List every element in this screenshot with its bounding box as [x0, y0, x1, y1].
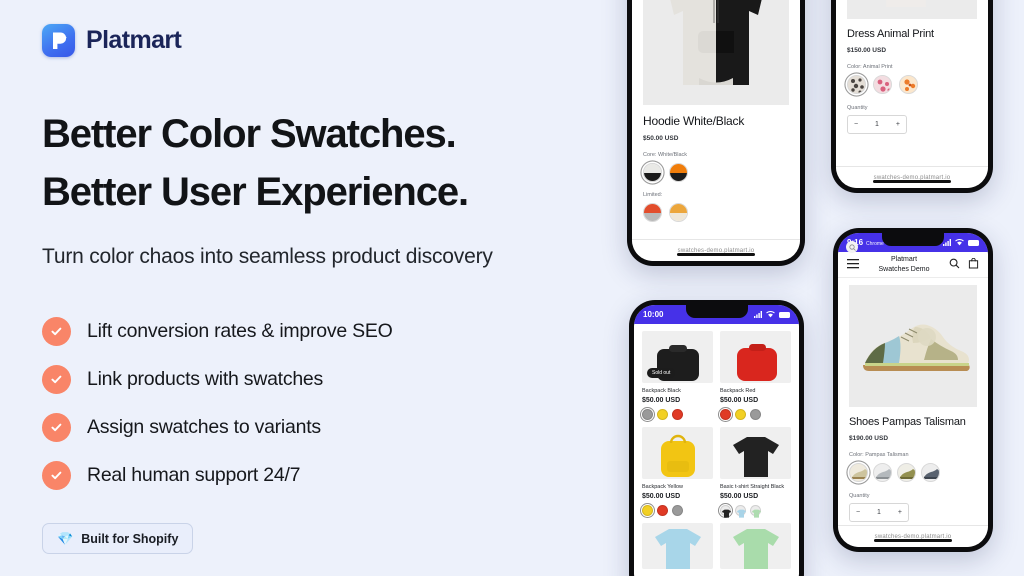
- site-header: Platmart Swatches Demo: [838, 252, 988, 278]
- list-item: Lift conversion rates & improve SEO: [42, 307, 580, 355]
- shoe-grey-swatch[interactable]: [873, 463, 892, 482]
- status-app-label: Chrome: [866, 241, 884, 247]
- product-image: [643, 0, 789, 105]
- grey-dot[interactable]: [672, 505, 683, 516]
- check-circle-icon: [42, 317, 71, 346]
- orange-black-swatch[interactable]: [669, 163, 688, 182]
- product-name: Basic t-shirt Straight Black: [720, 484, 791, 490]
- status-time-group: 10:00: [643, 310, 663, 319]
- yellow-dot[interactable]: [642, 505, 653, 516]
- cart-icon[interactable]: [968, 256, 979, 274]
- signal-icon: [943, 239, 951, 246]
- product-title: Shoes Pampas Talisman: [849, 416, 977, 428]
- phone-mockup-collection: 10:00 Sold out Backpack Black $50.00 USD: [629, 300, 804, 576]
- url-bar[interactable]: swatches-demo.platmart.io: [836, 166, 988, 188]
- yellow-dot[interactable]: [657, 409, 668, 420]
- phone-mockup-shoes: 9:16 Chrome Platmart Swatches Demo: [833, 228, 993, 552]
- check-circle-icon: [42, 461, 71, 490]
- red-dot[interactable]: [672, 409, 683, 420]
- swatch-row: [642, 505, 713, 516]
- grey-dot[interactable]: [750, 409, 761, 420]
- home-indicator: [874, 539, 952, 542]
- shoe-olive-swatch[interactable]: [897, 463, 916, 482]
- subheadline: Turn color chaos into seamless product d…: [42, 239, 532, 275]
- phone-screen: 9:16 Chrome Platmart Swatches Demo: [838, 233, 988, 547]
- gem-icon: 💎: [57, 532, 73, 545]
- product-image: Sold out: [642, 331, 713, 383]
- brand-name: Platmart: [86, 26, 181, 55]
- quantity-value: 1: [877, 509, 881, 516]
- red-dot[interactable]: [657, 505, 668, 516]
- green-tshirt-swatch[interactable]: [750, 505, 761, 516]
- product-title: Dress Animal Print: [847, 28, 977, 40]
- swatch-row: [642, 409, 713, 420]
- site-title-line-1: Platmart: [891, 256, 917, 263]
- product-detail-page: Dress Animal Print $150.00 USD Color: An…: [836, 0, 988, 134]
- product-image: [720, 331, 791, 383]
- phone-screen: Dress Animal Print $150.00 USD Color: An…: [836, 0, 988, 188]
- quantity-increment-button[interactable]: +: [896, 121, 900, 128]
- url-bar[interactable]: swatches-demo.platmart.io: [632, 239, 800, 261]
- product-price: $150.00 USD: [847, 47, 977, 54]
- product-image: [720, 427, 791, 479]
- product-image: [847, 0, 977, 19]
- phone-mockup-hoodie: Hoodie White/Black $50.00 USD Core: Whit…: [627, 0, 805, 266]
- phone-screen: 10:00 Sold out Backpack Black $50.00 USD: [634, 305, 799, 576]
- option-label-color: Color: Animal Print: [847, 64, 977, 70]
- grey-dot[interactable]: [642, 409, 653, 420]
- notch: [686, 305, 748, 318]
- phone-mockup-dress: Dress Animal Print $150.00 USD Color: An…: [831, 0, 993, 193]
- quantity-value: 1: [875, 121, 879, 128]
- shoe-navy-swatch[interactable]: [921, 463, 940, 482]
- feature-label: Link products with swatches: [87, 368, 323, 391]
- product-grid: Sold out Backpack Black $50.00 USD Backp…: [634, 324, 799, 576]
- quantity-label: Quantity: [847, 105, 977, 111]
- option-label-limited: Limited:: [643, 192, 789, 198]
- marketing-panel: Platmart Better Color Swatches. Better U…: [0, 0, 620, 576]
- pink-floral-swatch[interactable]: [873, 75, 892, 94]
- platmart-logo-icon: [42, 24, 75, 57]
- product-title: Hoodie White/Black: [643, 114, 789, 128]
- feature-label: Lift conversion rates & improve SEO: [87, 320, 393, 343]
- product-detail-page: Shoes Pampas Talisman $190.00 USD Color:…: [838, 278, 988, 522]
- status-icons: [943, 239, 979, 246]
- product-price: $50.00 USD: [720, 397, 791, 404]
- quantity-stepper[interactable]: − 1 +: [847, 115, 907, 134]
- swatch-row: [720, 409, 791, 420]
- url-bar[interactable]: swatches-demo.platmart.io: [838, 525, 988, 547]
- battery-icon: [968, 240, 979, 246]
- product-image: [720, 523, 791, 569]
- product-name: Backpack Red: [720, 388, 791, 394]
- status-icons: [754, 311, 790, 318]
- product-price: $50.00 USD: [642, 493, 713, 500]
- quantity-increment-button[interactable]: +: [898, 509, 902, 516]
- product-image: [642, 427, 713, 479]
- white-black-swatch[interactable]: [643, 163, 662, 182]
- brand-lockup: Platmart: [42, 18, 580, 62]
- product-price: $50.00 USD: [643, 135, 789, 142]
- red-dot[interactable]: [720, 409, 731, 420]
- quantity-stepper[interactable]: − 1 +: [849, 503, 909, 522]
- check-circle-icon: [42, 413, 71, 442]
- list-item[interactable]: Backpack Red $50.00 USD: [720, 331, 791, 420]
- quantity-decrement-button[interactable]: −: [856, 509, 860, 516]
- list-item[interactable]: Basic t-shirt Straight Black $50.00 USD: [720, 427, 791, 516]
- product-name: Backpack Black: [642, 388, 713, 394]
- black-tshirt-swatch[interactable]: [720, 505, 731, 516]
- list-item[interactable]: [642, 523, 713, 569]
- list-item: Assign swatches to variants: [42, 403, 580, 451]
- headline-line-1: Better Color Swatches.: [42, 106, 580, 164]
- product-price: $50.00 USD: [720, 493, 791, 500]
- swatch-row-color: [847, 75, 977, 94]
- feature-label: Real human support 24/7: [87, 464, 300, 487]
- list-item: Real human support 24/7: [42, 451, 580, 499]
- shoe-pampas-swatch[interactable]: [849, 463, 868, 482]
- signal-icon: [754, 311, 762, 318]
- status-badge: Sold out: [647, 368, 675, 378]
- hamburger-icon[interactable]: [847, 256, 859, 274]
- badge-label: Built for Shopify: [81, 532, 178, 546]
- swatch-row-core: [643, 163, 789, 182]
- option-label-core: Core: White/Black: [643, 152, 789, 158]
- orange-floral-swatch[interactable]: [899, 75, 918, 94]
- list-item: Link products with swatches: [42, 355, 580, 403]
- option-label-color: Color: Pampas Talisman: [849, 452, 977, 458]
- battery-icon: [779, 312, 790, 318]
- page-title: Better Color Swatches. Better User Exper…: [42, 106, 580, 221]
- swatch-row: [720, 505, 791, 516]
- quantity-label: Quantity: [849, 493, 977, 499]
- list-item[interactable]: [720, 523, 791, 569]
- amber-cream-swatch[interactable]: [669, 203, 688, 222]
- swatch-row-color: [849, 463, 977, 482]
- site-title-line-2: Swatches Demo: [879, 266, 930, 273]
- red-grey-swatch[interactable]: [643, 203, 662, 222]
- home-indicator: [873, 180, 951, 183]
- animal-print-swatch[interactable]: [847, 75, 866, 94]
- site-title: Platmart Swatches Demo: [867, 255, 941, 274]
- notch: [882, 233, 944, 246]
- check-circle-icon: [42, 365, 71, 394]
- product-image: [642, 523, 713, 569]
- status-time: 10:00: [643, 310, 663, 319]
- phone-screen: Hoodie White/Black $50.00 USD Core: Whit…: [632, 0, 800, 261]
- product-name: Backpack Yellow: [642, 484, 713, 490]
- list-item[interactable]: Sold out Backpack Black $50.00 USD: [642, 331, 713, 420]
- product-detail-page: Hoodie White/Black $50.00 USD Core: Whit…: [632, 0, 800, 222]
- wifi-icon: [955, 239, 964, 246]
- product-price: $50.00 USD: [642, 397, 713, 404]
- quantity-decrement-button[interactable]: −: [854, 121, 858, 128]
- product-price: $190.00 USD: [849, 435, 977, 442]
- list-item[interactable]: Backpack Yellow $50.00 USD: [642, 427, 713, 516]
- search-icon[interactable]: [949, 256, 960, 274]
- headline-line-2: Better User Experience.: [42, 164, 580, 222]
- blue-tshirt-swatch[interactable]: [735, 505, 746, 516]
- yellow-dot[interactable]: [735, 409, 746, 420]
- feature-list: Lift conversion rates & improve SEO Link…: [42, 307, 580, 499]
- wifi-icon: [766, 311, 775, 318]
- feature-label: Assign swatches to variants: [87, 416, 321, 439]
- home-indicator: [677, 253, 755, 256]
- swatch-row-limited: [643, 203, 789, 222]
- product-image: [849, 285, 977, 407]
- built-for-shopify-badge[interactable]: 💎 Built for Shopify: [42, 523, 193, 554]
